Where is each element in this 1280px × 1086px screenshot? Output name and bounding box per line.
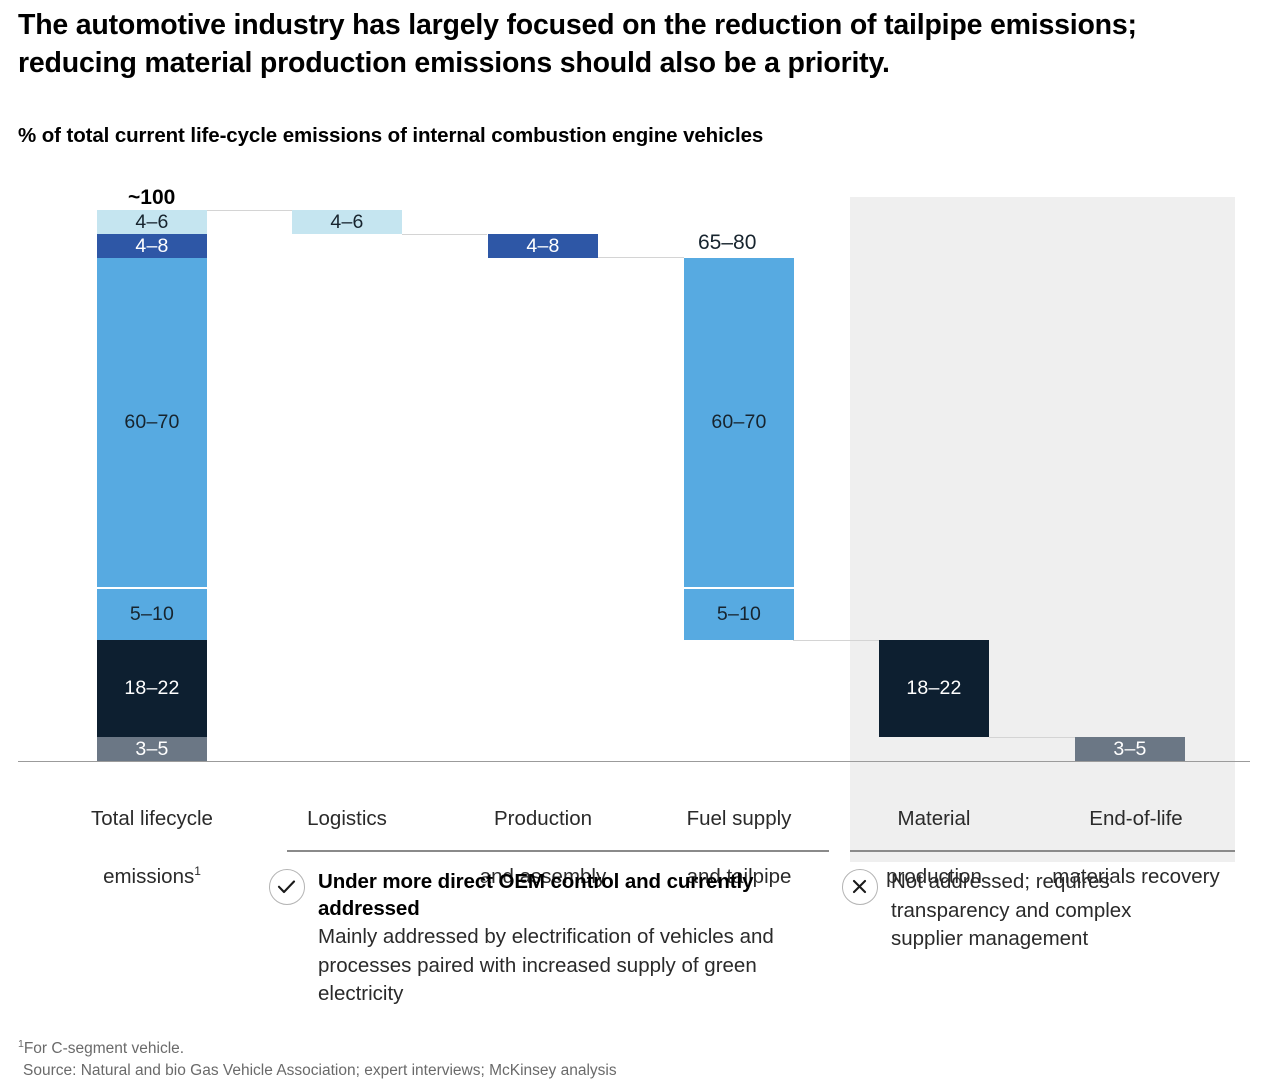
footnote-marker: 1 xyxy=(194,864,201,878)
category-label-line2: emissions xyxy=(103,865,194,888)
not-addressed-highlight-panel xyxy=(850,197,1235,862)
connector-line-3 xyxy=(598,257,684,258)
connector-line-1 xyxy=(207,210,293,211)
bar-total-logistics: 4–6 xyxy=(97,210,207,234)
connector-line-4 xyxy=(793,640,879,641)
connector-line-2 xyxy=(402,234,487,235)
bar-production-assembly: 4–8 xyxy=(488,234,598,258)
footnotes: 1For C-segment vehicle. Source: Natural … xyxy=(18,1038,617,1081)
category-label-line1: Production xyxy=(494,807,592,830)
category-label-line1: Material xyxy=(898,807,971,830)
bar-material-production: 18–22 xyxy=(879,640,989,737)
group-rule-not-addressed xyxy=(850,850,1235,852)
category-label-line1: End-of-life xyxy=(1089,807,1182,830)
callout-not-addressed-text: Not addressed; requires transparency and… xyxy=(891,868,1191,954)
category-label-total-lifecycle: Total lifecycle emissions1 xyxy=(42,775,262,891)
bar-tailpipe: 5–10 xyxy=(684,589,794,640)
bar-total-production: 4–8 xyxy=(97,234,207,258)
category-label-logistics: Logistics xyxy=(237,775,457,833)
axis-baseline xyxy=(18,761,1250,762)
footnote-text: For C-segment vehicle. xyxy=(24,1040,184,1057)
category-label-line1: Total lifecycle xyxy=(91,807,213,830)
column-1-total-label: ~100 xyxy=(128,186,175,210)
category-label-line1: Logistics xyxy=(307,807,387,830)
callout-addressed-text: Under more direct OEM control and curren… xyxy=(318,868,818,1009)
bar-total-endoflife: 3–5 xyxy=(97,737,207,761)
callout-addressed-title: Under more direct OEM control and curren… xyxy=(318,868,818,922)
footnote-line: 1For C-segment vehicle. xyxy=(18,1038,617,1060)
check-circle-icon xyxy=(269,869,305,905)
group-rule-addressed xyxy=(287,850,829,852)
column-4-top-label: 65–80 xyxy=(698,231,756,255)
bar-divider xyxy=(97,587,207,589)
source-line: Source: Natural and bio Gas Vehicle Asso… xyxy=(18,1060,617,1082)
category-label-line1: Fuel supply xyxy=(687,807,792,830)
bar-total-material: 18–22 xyxy=(97,640,207,737)
bar-total-fuel-supply: 60–70 xyxy=(97,258,207,587)
callout-addressed-body: Mainly addressed by electrification of v… xyxy=(318,923,818,1009)
bar-total-tailpipe: 5–10 xyxy=(97,589,207,640)
bar-divider xyxy=(684,587,794,589)
connector-line-5 xyxy=(989,737,1075,738)
x-circle-icon xyxy=(842,869,878,905)
bar-endoflife-recovery: 3–5 xyxy=(1075,737,1185,761)
bar-logistics: 4–6 xyxy=(292,210,402,234)
bar-fuel-supply: 60–70 xyxy=(684,258,794,587)
callout-not-addressed-body: Not addressed; requires transparency and… xyxy=(891,868,1191,954)
